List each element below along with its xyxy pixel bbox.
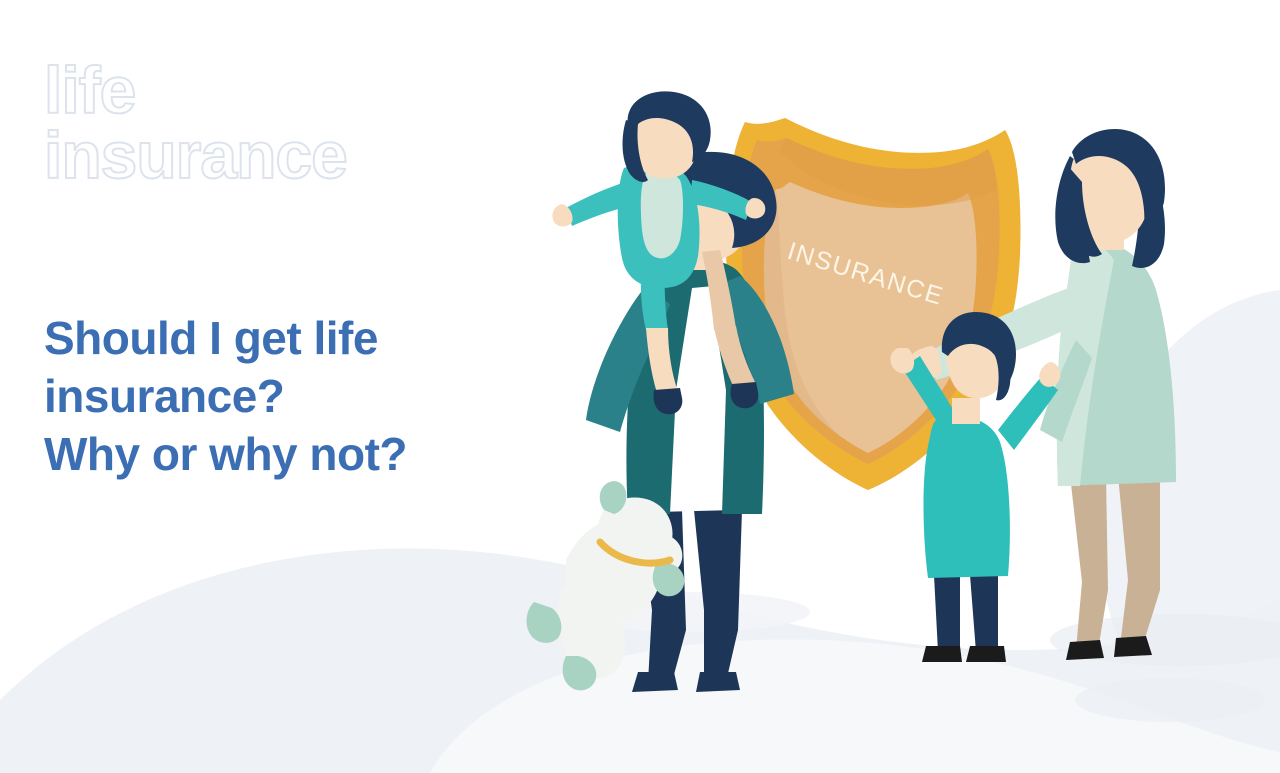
mother-shoe-right: [1114, 636, 1152, 657]
figure-child: [890, 312, 1060, 662]
child-leg-left: [934, 575, 960, 652]
page-title: Should I get life insurance? Why or why …: [44, 310, 504, 484]
child-shoe-left: [922, 646, 962, 662]
child-neck: [952, 398, 980, 424]
family-insurance-illustration: INSURANCE: [470, 90, 1280, 710]
toddler-bib: [641, 172, 683, 258]
mother-leg-left: [1070, 475, 1108, 650]
dog-hind-leg-back: [527, 602, 562, 643]
father-leg-right: [694, 510, 742, 682]
father-shoe-left: [632, 672, 678, 692]
mother-shoe-left: [1066, 640, 1104, 660]
banner-canvas: life insurance Should I get life insuran…: [0, 0, 1280, 773]
child-tunic: [924, 416, 1010, 578]
watermark-life-insurance: life insurance: [44, 58, 514, 187]
mother-leg-right: [1118, 475, 1160, 648]
father-shoe-right: [696, 672, 740, 692]
child-shoe-right: [966, 646, 1006, 662]
child-leg-right: [970, 575, 998, 652]
